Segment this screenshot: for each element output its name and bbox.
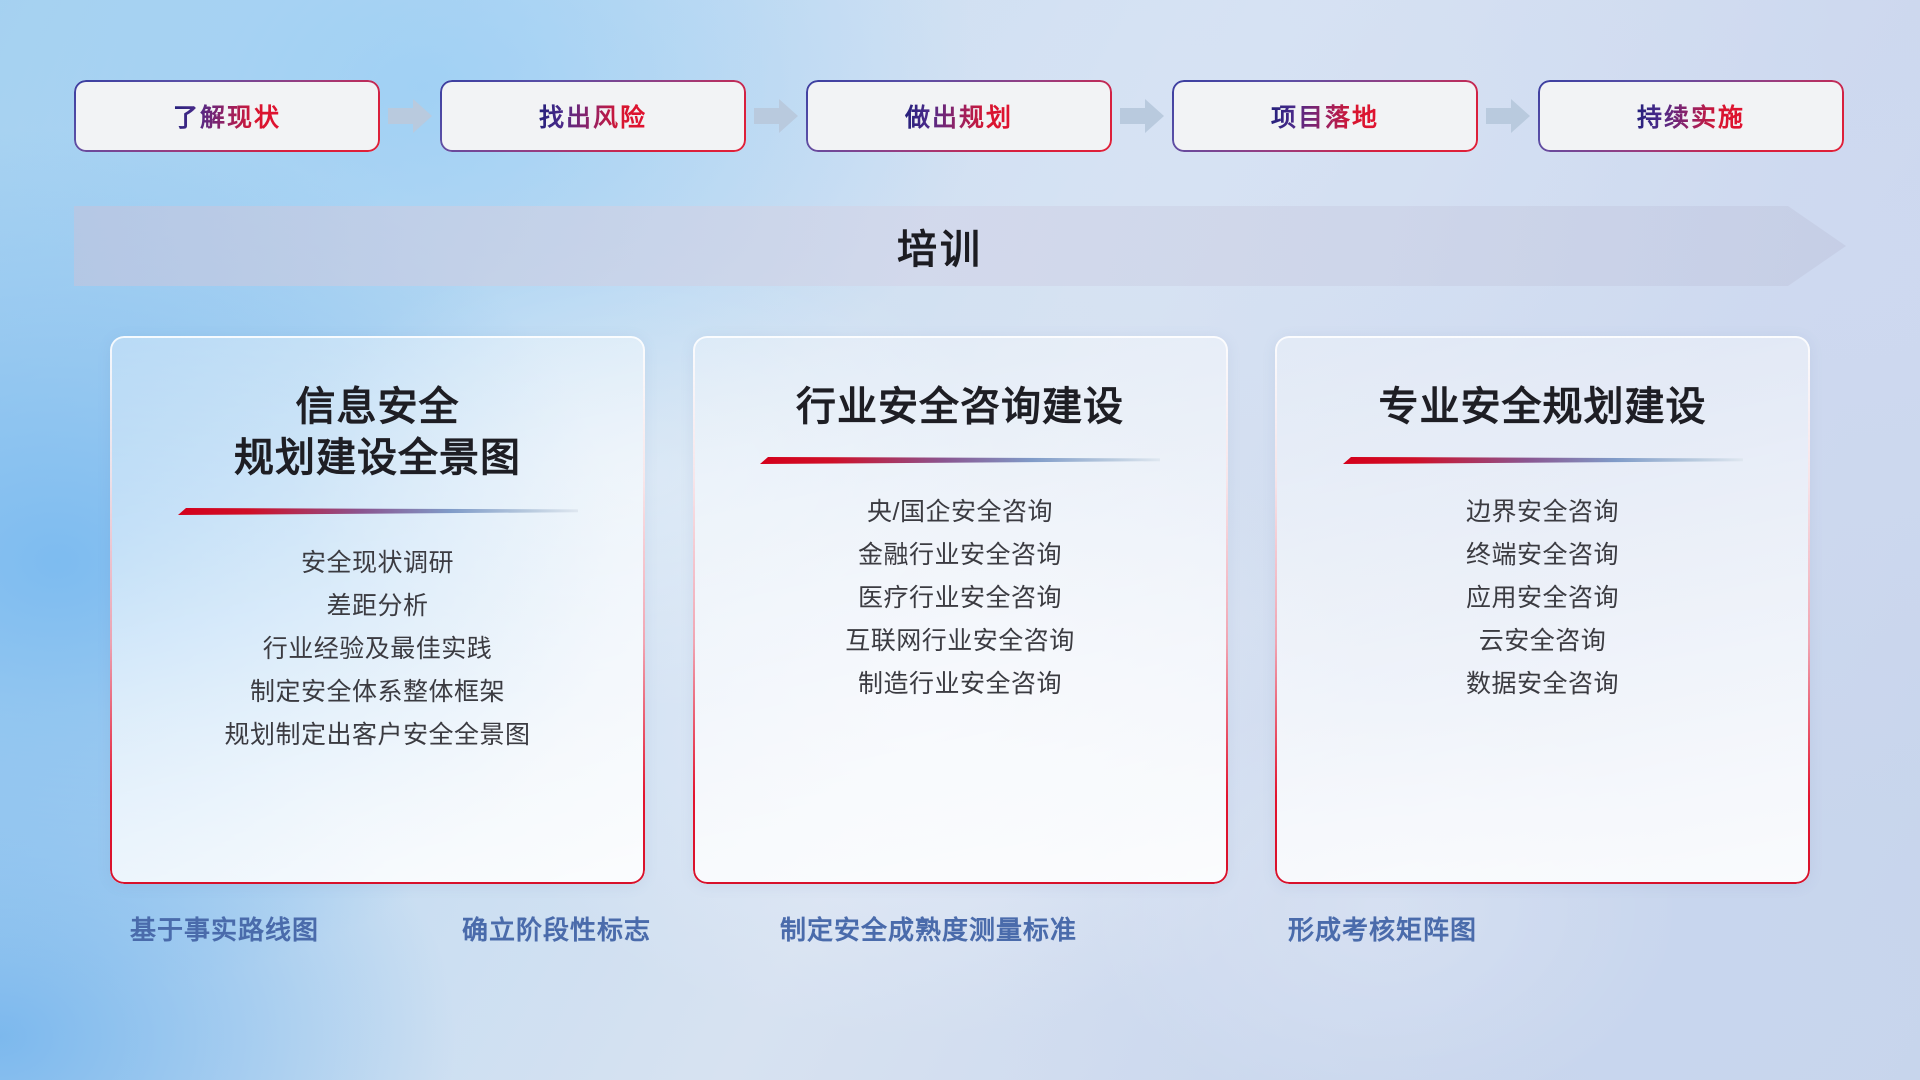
step-label-2: 找出风险 bbox=[539, 98, 647, 134]
list-item: 制造行业安全咨询 bbox=[711, 663, 1210, 706]
caption-3: 制定安全成熟度测量标准 bbox=[780, 910, 1077, 947]
card-title-3: 专业安全规划建设 bbox=[1355, 382, 1731, 433]
caption-2: 确立阶段性标志 bbox=[462, 910, 651, 947]
list-item: 差距分析 bbox=[128, 585, 627, 628]
step-box-1[interactable]: 了解现状 bbox=[74, 80, 380, 152]
list-item: 数据安全咨询 bbox=[1293, 663, 1792, 706]
step-arrow-icon-3 bbox=[1112, 80, 1172, 152]
card-list-2: 央/国企安全咨询 金融行业安全咨询 医疗行业安全咨询 互联网行业安全咨询 制造行… bbox=[693, 491, 1228, 706]
list-item: 终端安全咨询 bbox=[1293, 534, 1792, 577]
step-label-3: 做出规划 bbox=[905, 98, 1013, 134]
step-label-4: 项目落地 bbox=[1271, 98, 1379, 134]
caption-row: 基于事实路线图 确立阶段性标志 制定安全成熟度测量标准 形成考核矩阵图 bbox=[0, 910, 1920, 970]
list-item: 央/国企安全咨询 bbox=[711, 491, 1210, 534]
step-box-5[interactable]: 持续实施 bbox=[1538, 80, 1844, 152]
banner-title: 培训 bbox=[74, 206, 1846, 286]
list-item: 金融行业安全咨询 bbox=[711, 534, 1210, 577]
list-item: 规划制定出客户安全全景图 bbox=[128, 714, 627, 757]
training-banner: 培训 bbox=[74, 206, 1846, 286]
tapered-rule-icon-1 bbox=[178, 506, 578, 516]
list-item: 云安全咨询 bbox=[1293, 620, 1792, 663]
card-2[interactable]: 行业安全咨询建设 bbox=[693, 336, 1228, 884]
process-step-row: 了解现状 找出风险 做出规划 项目落地 bbox=[74, 80, 1846, 152]
list-item: 制定安全体系整体框架 bbox=[128, 671, 627, 714]
list-item: 互联网行业安全咨询 bbox=[711, 620, 1210, 663]
step-box-3[interactable]: 做出规划 bbox=[806, 80, 1112, 152]
card-row: 信息安全 规划建设全景图 bbox=[110, 336, 1810, 884]
card-list-3: 边界安全咨询 终端安全咨询 应用安全咨询 云安全咨询 数据安全咨询 bbox=[1275, 491, 1810, 706]
step-box-4[interactable]: 项目落地 bbox=[1172, 80, 1478, 152]
list-item: 医疗行业安全咨询 bbox=[711, 577, 1210, 620]
step-label-5: 持续实施 bbox=[1637, 98, 1745, 134]
list-item: 边界安全咨询 bbox=[1293, 491, 1792, 534]
card-title-1: 信息安全 规划建设全景图 bbox=[210, 382, 545, 484]
step-arrow-icon-4 bbox=[1478, 80, 1538, 152]
card-3[interactable]: 专业安全规划建设 bbox=[1275, 336, 1810, 884]
list-item: 应用安全咨询 bbox=[1293, 577, 1792, 620]
card-1[interactable]: 信息安全 规划建设全景图 bbox=[110, 336, 645, 884]
card-list-1: 安全现状调研 差距分析 行业经验及最佳实践 制定安全体系整体框架 规划制定出客户… bbox=[110, 542, 645, 757]
tapered-rule-icon-3 bbox=[1343, 455, 1743, 465]
step-arrow-icon-1 bbox=[380, 80, 440, 152]
tapered-rule-icon-2 bbox=[760, 455, 1160, 465]
step-label-1: 了解现状 bbox=[173, 98, 281, 134]
caption-4: 形成考核矩阵图 bbox=[1288, 910, 1477, 947]
caption-1: 基于事实路线图 bbox=[130, 910, 319, 947]
card-title-2: 行业安全咨询建设 bbox=[772, 382, 1148, 433]
step-box-2[interactable]: 找出风险 bbox=[440, 80, 746, 152]
step-arrow-icon-2 bbox=[746, 80, 806, 152]
slide-canvas: 了解现状 找出风险 做出规划 项目落地 bbox=[0, 0, 1920, 1080]
list-item: 安全现状调研 bbox=[128, 542, 627, 585]
list-item: 行业经验及最佳实践 bbox=[128, 628, 627, 671]
